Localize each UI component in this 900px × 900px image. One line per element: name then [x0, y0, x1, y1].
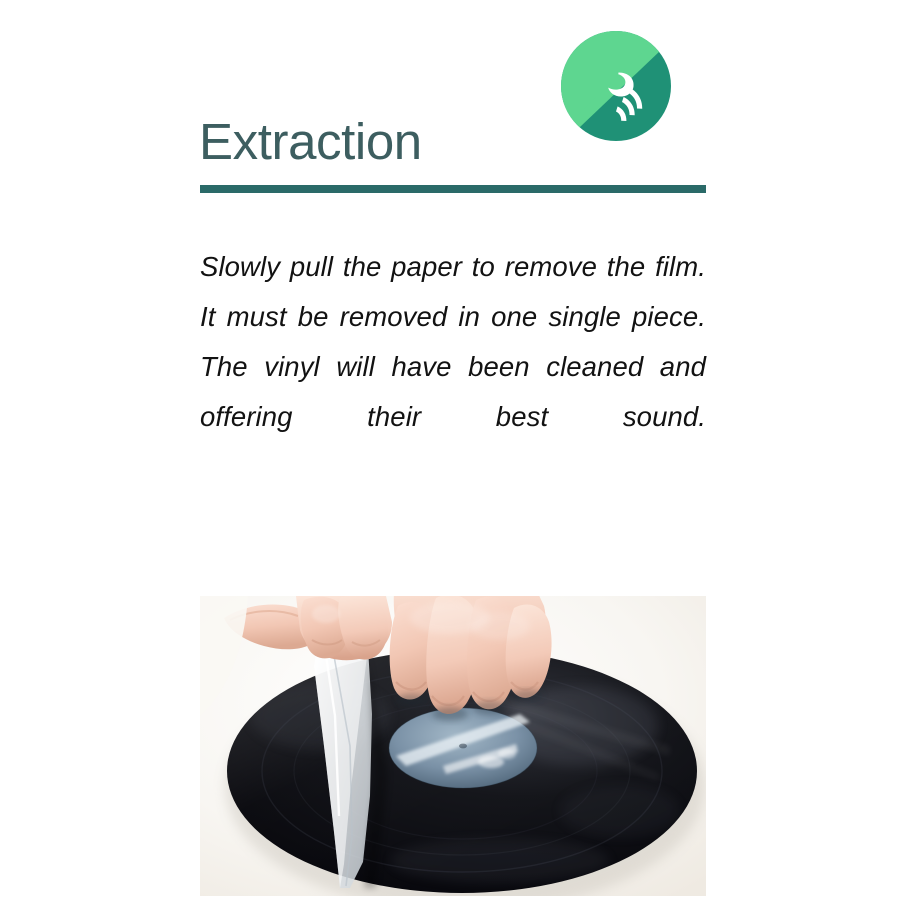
- title-divider: [200, 185, 706, 193]
- photo-peeling-film-from-vinyl-illustration: [200, 596, 706, 896]
- page-title: Extraction: [199, 113, 422, 170]
- vinyl-record-logo-icon: [558, 28, 674, 144]
- page-root: Extraction Slowly pull the paper to remo…: [0, 0, 900, 900]
- record-label: [389, 708, 537, 788]
- instruction-photo: [200, 596, 706, 896]
- logo-container: [552, 26, 704, 144]
- instruction-text: Slowly pull the paper to remove the film…: [200, 242, 706, 492]
